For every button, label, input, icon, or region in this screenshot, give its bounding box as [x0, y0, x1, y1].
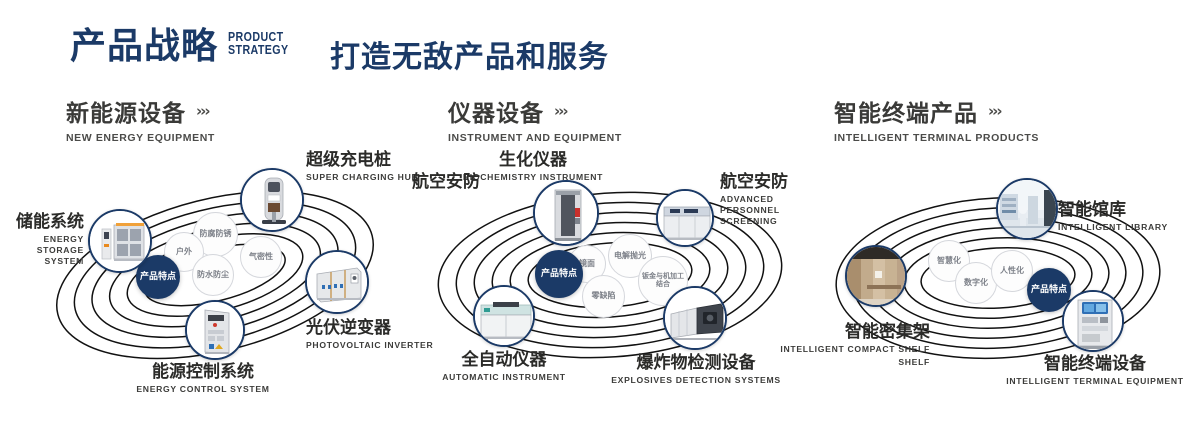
section-title-en: NEW ENERGY EQUIPMENT [66, 132, 215, 144]
node-explosives-detection-systems[interactable] [663, 286, 727, 350]
feature-bubble-label: 零缺陷 [592, 292, 616, 301]
chevron-right-icon: ››› [196, 102, 209, 120]
section-label: 仪器设备 [448, 94, 544, 128]
node-label-en: ENERGY CONTROL SYSTEM [85, 384, 321, 395]
core-bubble-label: 产品特点 [140, 272, 176, 282]
security-gate-icon [535, 182, 597, 244]
feature-bubble-label: 数字化 [964, 279, 988, 288]
section-title-intelligent-terminal: 智能终端产品 ››› INTELLIGENT TERMINAL PRODUCTS [834, 94, 1039, 144]
feature-bubble: 防水防尘 [192, 254, 234, 296]
node-label-en: INTELLIGENT LIBRARY [1058, 222, 1168, 233]
self-service-kiosk-icon [1064, 292, 1122, 350]
product-strategy-infographic: 产品战略 PRODUCT STRATEGY 打造无敌产品和服务 新能源设备 ››… [0, 0, 1200, 422]
label-automatic-instrument: 全自动仪器 AUTOMATIC INSTRUMENT [414, 350, 594, 383]
node-energy-control-system[interactable] [185, 300, 245, 360]
node-label-en: EXPLOSIVES DETECTION SYSTEMS [598, 375, 794, 386]
brand-title-cn: 产品战略 [70, 26, 218, 68]
label-energy-storage-system: 储能系统 ENERGY STORAGE SYSTEM [0, 212, 84, 267]
node-advanced-personnel-screening[interactable] [656, 189, 714, 247]
node-label-cn: 智能馆库 [1058, 200, 1168, 220]
node-label-cn: 智能密集架 [770, 322, 930, 342]
node-label-en: INTELLIGENT COMPACT SHELF [770, 344, 930, 355]
core-bubble-product-features: 产品特点 [535, 250, 583, 298]
feature-bubble-label: 户外 [176, 248, 192, 257]
chevron-right-icon: ››› [988, 102, 1001, 120]
feature-bubble-label: 气密性 [249, 253, 273, 262]
node-label-cn: 航空安防 [720, 172, 812, 192]
core-bubble-label: 产品特点 [1031, 285, 1067, 295]
chevron-right-icon: ››› [554, 102, 567, 120]
brand-header: 产品战略 PRODUCT STRATEGY [70, 26, 302, 68]
node-label-cn: 储能系统 [0, 212, 84, 232]
brand-title-en: PRODUCT STRATEGY [228, 30, 289, 56]
node-photovoltaic-inverter[interactable] [305, 250, 369, 314]
section-title-instrument: 仪器设备 ››› INSTRUMENT AND EQUIPMENT [448, 94, 622, 144]
node-label-en: AUTOMATIC INSTRUMENT [414, 372, 594, 383]
label-advanced-personnel-screening: 航空安防 ADVANCED PERSONNEL SCREENING [720, 172, 812, 227]
node-label-en: ADVANCED PERSONNEL SCREENING [720, 194, 812, 227]
section-title-cn: 新能源设备 ››› [66, 94, 215, 128]
node-intelligent-library[interactable] [996, 178, 1058, 240]
cluster-new-energy: 防腐防锈 户外 防水防尘 气密性 产品特点 [0, 150, 420, 400]
cluster-intelligent-terminal: 智慧化 数字化 人性化 产品特点 [800, 150, 1200, 400]
node-intelligent-compact-shelf[interactable] [845, 245, 907, 307]
section-label: 新能源设备 [66, 94, 186, 128]
node-label-cn: 能源控制系统 [85, 362, 321, 382]
compact-shelf-icon [847, 247, 905, 305]
feature-bubble-label: 钣金与机加工结合 [639, 273, 687, 289]
library-room-icon [998, 180, 1056, 238]
detection-scanner-icon [665, 288, 725, 348]
node-label-cn: 全自动仪器 [414, 350, 594, 370]
node-label-cn: 航空安防 [394, 172, 480, 192]
label-explosives-detection-systems: 爆炸物检测设备 EXPLOSIVES DETECTION SYSTEMS [598, 353, 794, 386]
node-super-charging-hub[interactable] [240, 168, 304, 232]
node-label-en: ENERGY STORAGE SYSTEM [0, 234, 84, 267]
feature-bubble: 零缺陷 [582, 275, 625, 318]
node-label-cn: 爆炸物检测设备 [598, 353, 794, 373]
brand-title-en-line2: STRATEGY [228, 43, 289, 56]
feature-bubble-label: 智慧化 [937, 257, 961, 266]
cluster-instrument: 镜面 电解抛光 钣金与机加工结合 零缺陷 产品特点 生化仪器 BIOCHEMIS… [400, 150, 820, 400]
node-label-cn: 生化仪器 [438, 150, 628, 170]
node-label-en-line2: SHELF [770, 357, 930, 368]
label-intelligent-library: 智能馆库 INTELLIGENT LIBRARY [1058, 200, 1168, 233]
feature-bubble-label: 人性化 [1000, 267, 1024, 276]
label-intelligent-compact-shelf: 智能密集架 INTELLIGENT COMPACT SHELF SHELF [770, 322, 930, 368]
screening-machine-icon [658, 191, 712, 245]
node-label-cn: 智能终端设备 [990, 354, 1200, 374]
section-title-en: INTELLIGENT TERMINAL PRODUCTS [834, 132, 1039, 144]
headline: 打造无敌产品和服务 [330, 32, 609, 76]
label-energy-control-system: 能源控制系统 ENERGY CONTROL SYSTEM [85, 362, 321, 395]
section-title-cn: 智能终端产品 ››› [834, 94, 1039, 128]
control-cabinet-icon [187, 302, 243, 358]
node-energy-storage-system[interactable] [88, 209, 152, 273]
core-bubble-label: 产品特点 [541, 269, 577, 279]
label-intelligent-terminal-equipment: 智能终端设备 INTELLIGENT TERMINAL EQUIPMENT [990, 354, 1200, 387]
energy-storage-cabinet-icon [90, 211, 150, 271]
node-automatic-instrument[interactable] [473, 285, 535, 347]
section-title-new-energy: 新能源设备 ››› NEW ENERGY EQUIPMENT [66, 94, 215, 144]
feature-bubble-label: 防水防尘 [197, 271, 229, 280]
section-title-cn: 仪器设备 ››› [448, 94, 622, 128]
charging-pile-icon [242, 170, 302, 230]
label-aviation-security-left: 航空安防 [394, 172, 480, 192]
node-label-en: INTELLIGENT TERMINAL EQUIPMENT [990, 376, 1200, 387]
feature-bubble-label: 电解抛光 [614, 252, 646, 261]
feature-bubble: 气密性 [240, 236, 282, 278]
inverter-cabinet-icon [307, 252, 367, 312]
automatic-analyzer-icon [475, 287, 533, 345]
section-label: 智能终端产品 [834, 94, 978, 128]
node-intelligent-terminal-equipment[interactable] [1062, 290, 1124, 352]
section-title-en: INSTRUMENT AND EQUIPMENT [448, 132, 622, 144]
feature-bubble-label: 防腐防锈 [200, 230, 232, 239]
node-biochemistry-instrument[interactable] [533, 180, 599, 246]
